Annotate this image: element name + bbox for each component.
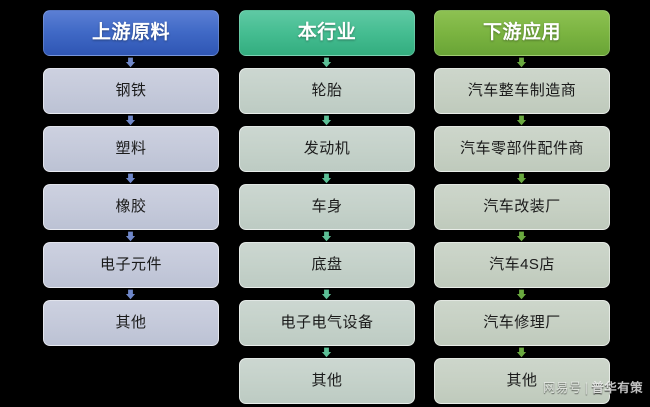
chain-node[interactable]: 其他 (239, 358, 415, 404)
chain-header-label: 上游原料 (92, 23, 170, 44)
arrow-down-icon (125, 115, 136, 126)
arrow-down-icon (321, 115, 332, 126)
chain-node[interactable]: 其他 (434, 358, 610, 404)
chain-node[interactable]: 电子元件 (43, 242, 219, 288)
arrow-down-icon (321, 57, 332, 68)
chain-node-label: 车身 (311, 199, 342, 216)
chain-node[interactable]: 塑料 (43, 126, 219, 172)
arrow-down-icon (516, 57, 527, 68)
chain-node-label: 汽车零部件配件商 (460, 141, 584, 158)
chain-node-label: 其他 (115, 315, 146, 332)
arrow-down-icon (125, 231, 136, 242)
chain-header-label: 本行业 (298, 23, 357, 44)
chain-node-label: 轮胎 (311, 83, 342, 100)
chain-header-label: 下游应用 (483, 23, 561, 44)
arrow-down-icon (516, 289, 527, 300)
arrow-down-icon (516, 231, 527, 242)
chain-node-label: 电子电气设备 (280, 315, 373, 332)
chain-node[interactable]: 汽车整车制造商 (434, 68, 610, 114)
arrow-down-icon (321, 347, 332, 358)
chain-node-label: 其他 (506, 373, 537, 390)
chain-node-label: 塑料 (115, 141, 146, 158)
arrow-down-icon (321, 289, 332, 300)
value-chain-diagram: 上游原料钢铁塑料橡胶电子元件其他 本行业轮胎发动机车身底盘电子电气设备其他 下游… (0, 0, 650, 407)
chain-header-downstream[interactable]: 下游应用 (434, 10, 610, 56)
chain-node-label: 发动机 (304, 141, 351, 158)
chain-node[interactable]: 汽车改装厂 (434, 184, 610, 230)
chain-node[interactable]: 发动机 (239, 126, 415, 172)
chain-node-label: 汽车4S店 (489, 257, 555, 274)
chain-node[interactable]: 钢铁 (43, 68, 219, 114)
chain-node-label: 电子元件 (100, 257, 162, 274)
arrow-down-icon (516, 173, 527, 184)
chain-node[interactable]: 汽车修理厂 (434, 300, 610, 346)
chain-node-label: 汽车改装厂 (483, 199, 561, 216)
arrow-down-icon (321, 173, 332, 184)
chain-node-label: 钢铁 (115, 83, 146, 100)
chain-node-label: 汽车修理厂 (483, 315, 561, 332)
arrow-down-icon (321, 231, 332, 242)
chain-node[interactable]: 底盘 (239, 242, 415, 288)
arrow-down-icon (125, 57, 136, 68)
chain-node[interactable]: 车身 (239, 184, 415, 230)
chain-node[interactable]: 电子电气设备 (239, 300, 415, 346)
chain-node-label: 底盘 (311, 257, 342, 274)
chain-node-label: 其他 (311, 373, 342, 390)
arrow-down-icon (125, 289, 136, 300)
chain-node[interactable]: 汽车4S店 (434, 242, 610, 288)
chain-header-upstream[interactable]: 上游原料 (43, 10, 219, 56)
chain-node[interactable]: 其他 (43, 300, 219, 346)
chain-node-label: 橡胶 (115, 199, 146, 216)
chain-node-label: 汽车整车制造商 (468, 83, 577, 100)
chain-node[interactable]: 橡胶 (43, 184, 219, 230)
arrow-down-icon (125, 173, 136, 184)
arrow-down-icon (516, 347, 527, 358)
chain-node[interactable]: 轮胎 (239, 68, 415, 114)
chain-node[interactable]: 汽车零部件配件商 (434, 126, 610, 172)
arrow-down-icon (516, 115, 527, 126)
chain-header-industry[interactable]: 本行业 (239, 10, 415, 56)
